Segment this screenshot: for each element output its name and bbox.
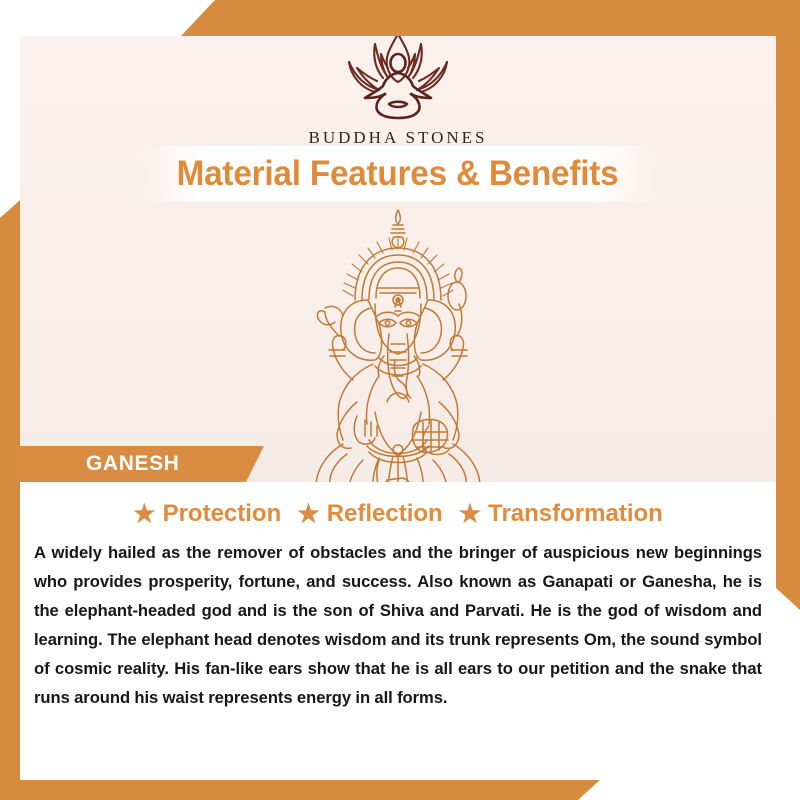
title-band: Material Features & Benefits [138, 146, 658, 202]
benefit-label: Reflection [327, 500, 443, 528]
brand-name: BUDDHA STONES [309, 128, 488, 148]
benefit-item-reflection: ★ Reflection [297, 500, 442, 528]
brand-logo: BUDDHA STONES [20, 36, 776, 148]
deity-name: GANESH [86, 452, 179, 476]
benefit-label: Protection [163, 500, 282, 528]
star-icon: ★ [297, 502, 319, 527]
page-title: Material Features & Benefits [177, 154, 619, 194]
bottom-accent-bar [0, 780, 800, 800]
benefit-item-transformation: ★ Transformation [459, 500, 663, 528]
star-icon: ★ [133, 502, 155, 527]
ganesha-illustration [283, 204, 513, 504]
right-accent-bar [776, 0, 800, 610]
left-accent-bar [0, 200, 20, 800]
benefit-label: Transformation [488, 500, 663, 528]
ganesha-line-art-icon [283, 204, 513, 504]
star-icon: ★ [459, 502, 481, 527]
deity-name-banner: GANESH [20, 446, 264, 482]
description-panel: ★ Protection ★ Reflection ★ Transformati… [20, 482, 776, 780]
lotus-meditation-icon [323, 36, 473, 126]
benefit-item-protection: ★ Protection [133, 500, 281, 528]
header-section: BUDDHA STONES Material Features & Benefi… [20, 36, 776, 511]
benefits-list: ★ Protection ★ Reflection ★ Transformati… [20, 482, 776, 528]
top-accent-bar [0, 0, 800, 36]
deity-description: A widely hailed as the remover of obstac… [34, 538, 762, 712]
product-infographic: BUDDHA STONES Material Features & Benefi… [0, 0, 800, 800]
